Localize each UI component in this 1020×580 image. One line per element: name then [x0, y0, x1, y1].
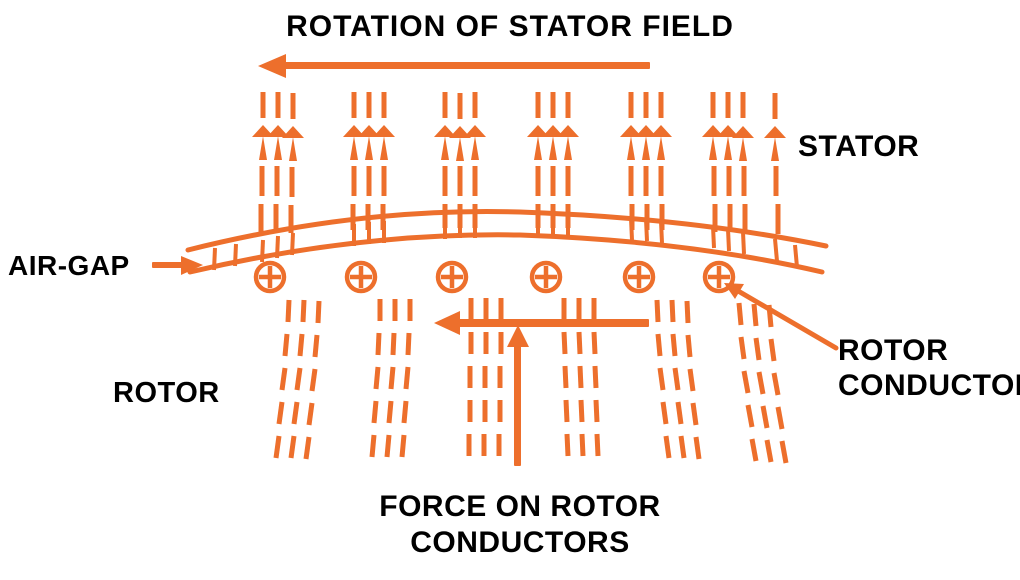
force-label-line2: CONDUCTORS	[240, 525, 800, 561]
force-label-line1: FORCE ON ROTOR	[240, 489, 800, 525]
rotor-conductor-label-line2: CONDUCTOR	[838, 368, 1020, 403]
air-gap-label: AIR-GAP	[8, 250, 130, 281]
stator-field-arrowheads	[252, 125, 786, 161]
force-on-rotor-conductors-label: FORCE ON ROTOR CONDUCTORS	[240, 489, 800, 561]
rotor-conductor-symbol	[256, 263, 284, 291]
air-gap-radial-dashes	[214, 215, 797, 270]
stator-label: STATOR	[798, 130, 919, 164]
diagram-canvas: ROTATION OF STATOR FIELD STATOR AIR-GAP …	[0, 0, 1020, 580]
rotor-conductor-symbol	[532, 263, 560, 291]
page-title: ROTATION OF STATOR FIELD	[0, 10, 1020, 44]
rotor-conductor-label: ROTOR CONDUCTOR	[838, 333, 1020, 404]
rotor-conductor-symbol	[625, 263, 653, 291]
rotor-conductor-symbol	[438, 263, 466, 291]
force-on-rotor-arrow	[434, 311, 649, 335]
rotor-conductor-symbols	[256, 263, 733, 291]
rotation-of-stator-field-arrow	[258, 54, 650, 78]
rotor-conductor-label-line1: ROTOR	[838, 333, 1020, 368]
rotor-label: ROTOR	[113, 377, 220, 409]
rotor-conductor-symbol	[347, 263, 375, 291]
force-leader-arrow	[507, 325, 529, 466]
